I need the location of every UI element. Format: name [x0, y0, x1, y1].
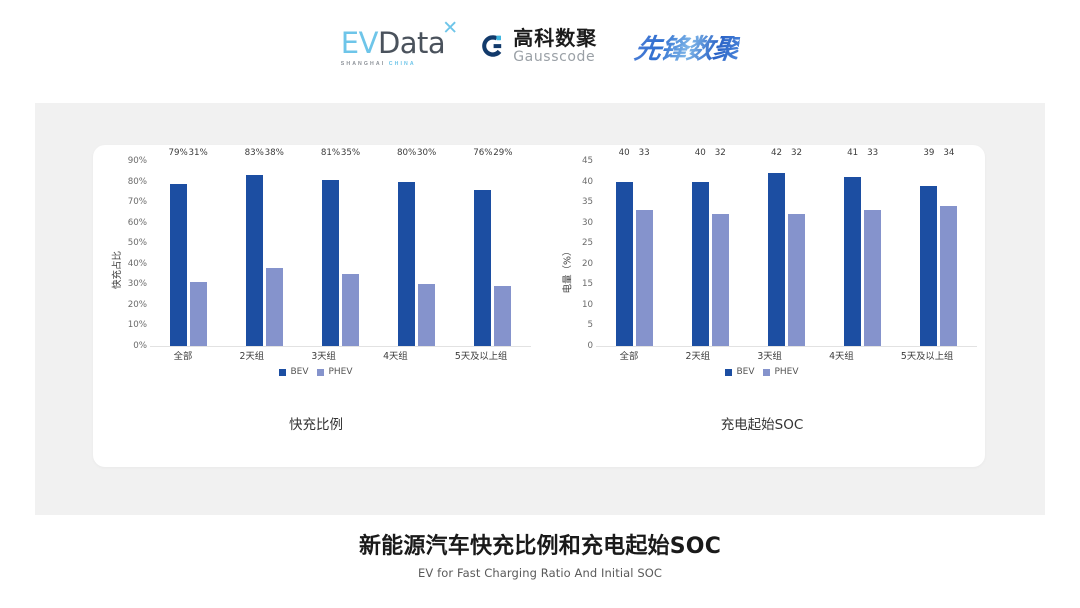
bar-bev[interactable]: 41 [844, 161, 861, 346]
x-tick-label: 3天组 [311, 348, 336, 366]
bar-rect [768, 173, 785, 346]
legend-label: BEV [290, 367, 308, 377]
x-tick-label: 全部 [620, 348, 639, 366]
bar-rect [712, 214, 729, 346]
page-title: 新能源汽车快充比例和充电起始SOC [0, 528, 1080, 560]
bar-bev[interactable]: 76% [474, 161, 491, 346]
x-axis-labels: 全部2天组3天组4天组5天及以上组 [150, 348, 531, 366]
y-tick-label: 0 [587, 341, 593, 351]
bar-value-label: 40 [619, 148, 630, 158]
bar-value-label: 33 [867, 148, 878, 158]
x-tick-label: 4天组 [829, 348, 854, 366]
bar-rect [170, 184, 187, 346]
bar-rect [246, 175, 263, 346]
bar-phev[interactable]: 29% [494, 161, 511, 346]
bar-bev[interactable]: 42 [768, 161, 785, 346]
bar-rect [920, 186, 937, 346]
bar-value-label: 38% [265, 148, 284, 158]
bar-value-label: 32 [791, 148, 802, 158]
charts-card: 快充占比90%80%70%60%50%40%30%20%10%0%79%31%8… [93, 145, 985, 467]
bar-rect [398, 182, 415, 346]
bar-phev[interactable]: 31% [190, 161, 207, 346]
bar-rect [940, 206, 957, 346]
legend-label: BEV [736, 367, 754, 377]
bar-group: 4033 [616, 161, 653, 346]
y-tick-label: 50% [128, 238, 147, 248]
evdata-logo: EV Data ✕ SHANGHAI CHINA [341, 26, 445, 67]
x-tick-label: 全部 [174, 348, 193, 366]
x-mark-icon: ✕ [442, 17, 458, 39]
page-subtitle: EV for Fast Charging Ratio And Initial S… [0, 566, 1080, 580]
xianfeng-logo: 先锋数聚 [632, 27, 741, 66]
bar-value-label: 30% [417, 148, 436, 158]
bar-phev[interactable]: 33 [864, 161, 881, 346]
bar-rect [864, 210, 881, 346]
legend-item-bev[interactable]: BEV [725, 367, 754, 377]
bar-phev[interactable]: 32 [788, 161, 805, 346]
bar-group: 81%35% [322, 161, 359, 346]
bar-rect [636, 210, 653, 346]
bar-bev[interactable]: 40 [616, 161, 633, 346]
charts-row: 快充占比90%80%70%60%50%40%30%20%10%0%79%31%8… [93, 145, 985, 467]
bar-bev[interactable]: 80% [398, 161, 415, 346]
bar-phev[interactable]: 32 [712, 161, 729, 346]
bar-value-label: 34 [943, 148, 954, 158]
bar-value-label: 41 [847, 148, 858, 158]
bar-phev[interactable]: 33 [636, 161, 653, 346]
bar-rect [692, 182, 709, 346]
gausscode-wordmark: 高科数聚 Gausscode [513, 28, 597, 64]
gausscode-cn-text: 高科数聚 [513, 28, 597, 48]
bar-rect [616, 182, 633, 346]
chart-legend: BEVPHEV [93, 367, 539, 377]
bar-phev[interactable]: 30% [418, 161, 435, 346]
bar-group: 4032 [692, 161, 729, 346]
bar-value-label: 35% [341, 148, 360, 158]
legend-swatch [317, 369, 324, 376]
bar-phev[interactable]: 34 [940, 161, 957, 346]
bar-groups: 79%31%83%38%81%35%80%30%76%29% [150, 161, 531, 346]
y-tick-label: 45 [582, 156, 593, 166]
bar-rect [342, 274, 359, 346]
bar-rect [266, 268, 283, 346]
y-tick-label: 0% [133, 341, 147, 351]
bar-value-label: 80% [397, 148, 416, 158]
y-tick-label: 35 [582, 197, 593, 207]
chart-initial-soc: 电量（%）45403530252015105040334032423241333… [539, 145, 985, 467]
bar-phev[interactable]: 38% [266, 161, 283, 346]
legend-item-phev[interactable]: PHEV [763, 367, 798, 377]
y-tick-label: 25 [582, 238, 593, 248]
y-tick-label: 60% [128, 218, 147, 228]
bar-value-label: 32 [715, 148, 726, 158]
bar-bev[interactable]: 83% [246, 161, 263, 346]
bar-value-label: 79% [168, 148, 187, 158]
x-tick-label: 3天组 [757, 348, 782, 366]
y-tick-label: 70% [128, 197, 147, 207]
y-axis-ticks: 90%80%70%60%50%40%30%20%10%0% [111, 161, 147, 346]
evdata-ev-text: EV [341, 26, 378, 60]
chart-caption: 快充比例 [93, 413, 539, 433]
legend-label: PHEV [328, 367, 352, 377]
gausscode-en-text: Gausscode [513, 50, 597, 64]
y-tick-label: 10 [582, 300, 593, 310]
bar-rect [322, 180, 339, 347]
bar-rect [418, 284, 435, 346]
plot-area-initial-soc: 电量（%）45403530252015105040334032423241333… [539, 145, 985, 395]
bar-rect [494, 286, 511, 346]
bar-phev[interactable]: 35% [342, 161, 359, 346]
evdata-data-text: Data [378, 26, 445, 60]
bar-value-label: 39 [923, 148, 934, 158]
plot-area-fast-charging-ratio: 快充占比90%80%70%60%50%40%30%20%10%0%79%31%8… [93, 145, 539, 395]
evdata-tagline-city: SHANGHAI [341, 61, 385, 67]
x-tick-label: 2天组 [240, 348, 265, 366]
x-tick-label: 5天及以上组 [901, 348, 953, 366]
chart-fast-charging-ratio: 快充占比90%80%70%60%50%40%30%20%10%0%79%31%8… [93, 145, 539, 467]
chart-legend: BEVPHEV [539, 367, 985, 377]
legend-item-bev[interactable]: BEV [279, 367, 308, 377]
x-tick-label: 5天及以上组 [455, 348, 507, 366]
bar-value-label: 31% [188, 148, 207, 158]
y-tick-label: 20% [128, 300, 147, 310]
bar-rect [788, 214, 805, 346]
logo-header: EV Data ✕ SHANGHAI CHINA 高科数聚 Gausscode … [0, 0, 1080, 92]
bar-bev[interactable]: 40 [692, 161, 709, 346]
evdata-tagline-country: CHINA [389, 61, 416, 67]
bar-group: 79%31% [170, 161, 207, 346]
legend-label: PHEV [774, 367, 798, 377]
bar-bev[interactable]: 81% [322, 161, 339, 346]
y-tick-label: 15 [582, 279, 593, 289]
y-tick-label: 90% [128, 156, 147, 166]
y-axis-ticks: 454035302520151050 [557, 161, 593, 346]
y-tick-label: 40 [582, 177, 593, 187]
content-panel: 快充占比90%80%70%60%50%40%30%20%10%0%79%31%8… [35, 103, 1045, 515]
legend-item-phev[interactable]: PHEV [317, 367, 352, 377]
y-tick-label: 40% [128, 259, 147, 269]
bar-group: 83%38% [246, 161, 283, 346]
y-tick-label: 30 [582, 218, 593, 228]
legend-swatch [763, 369, 770, 376]
bar-rect [190, 282, 207, 346]
y-tick-label: 20 [582, 259, 593, 269]
y-tick-label: 30% [128, 279, 147, 289]
bar-groups: 40334032423241333934 [596, 161, 977, 346]
legend-swatch [279, 369, 286, 376]
evdata-tagline: SHANGHAI CHINA [341, 61, 416, 67]
bar-bev[interactable]: 79% [170, 161, 187, 346]
g-circle-icon [479, 32, 507, 60]
x-axis-labels: 全部2天组3天组4天组5天及以上组 [596, 348, 977, 366]
bar-group: 4133 [844, 161, 881, 346]
gausscode-logo: 高科数聚 Gausscode [479, 28, 597, 64]
footer: 新能源汽车快充比例和充电起始SOC EV for Fast Charging R… [0, 528, 1080, 580]
bar-value-label: 33 [639, 148, 650, 158]
bar-value-label: 29% [493, 148, 512, 158]
bars-plot: 79%31%83%38%81%35%80%30%76%29% [150, 161, 531, 347]
y-tick-label: 5 [587, 320, 593, 330]
x-tick-label: 2天组 [686, 348, 711, 366]
bar-value-label: 76% [473, 148, 492, 158]
bar-group: 3934 [920, 161, 957, 346]
chart-caption: 充电起始SOC [539, 413, 985, 433]
bar-rect [474, 190, 491, 346]
evdata-wordmark: EV Data ✕ [341, 26, 445, 60]
bar-value-label: 81% [321, 148, 340, 158]
bar-group: 76%29% [474, 161, 511, 346]
bar-group: 4232 [768, 161, 805, 346]
bar-rect [844, 177, 861, 346]
y-tick-label: 10% [128, 320, 147, 330]
bar-value-label: 40 [695, 148, 706, 158]
y-tick-label: 80% [128, 177, 147, 187]
bars-plot: 40334032423241333934 [596, 161, 977, 347]
legend-swatch [725, 369, 732, 376]
bar-bev[interactable]: 39 [920, 161, 937, 346]
x-tick-label: 4天组 [383, 348, 408, 366]
bar-value-label: 42 [771, 148, 782, 158]
bar-value-label: 83% [245, 148, 264, 158]
bar-group: 80%30% [398, 161, 435, 346]
